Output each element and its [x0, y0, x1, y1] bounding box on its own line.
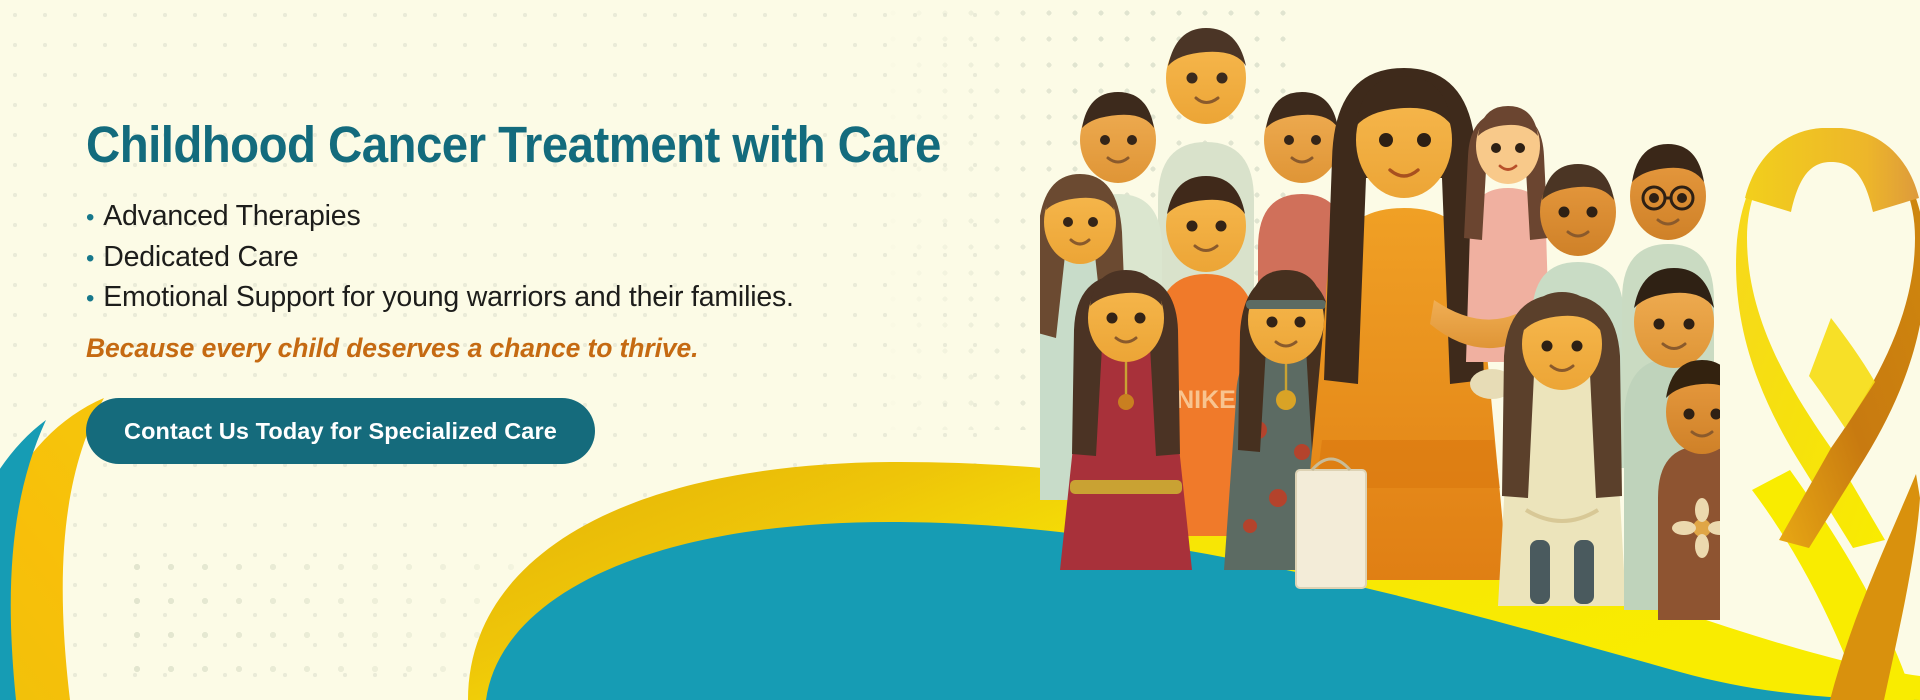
childhood-cancer-banner: NIKE: [0, 0, 1920, 700]
group-of-children-with-caregiver-illustration: NIKE: [1040, 0, 1720, 620]
gold-awareness-ribbon: [1735, 128, 1920, 548]
tagline-text: Because every child deserves a chance to…: [86, 333, 906, 364]
list-item-label: Emotional Support for young warriors and…: [103, 277, 794, 317]
list-item: • Emotional Support for young warriors a…: [86, 277, 906, 317]
list-item: • Advanced Therapies: [86, 196, 906, 236]
bullet-dot-icon: •: [86, 247, 94, 271]
ribbon-loop-top: [1745, 128, 1919, 212]
bullet-dot-icon: •: [86, 206, 94, 230]
list-item-label: Dedicated Care: [103, 237, 298, 277]
shirt-logo-text: NIKE: [1176, 386, 1236, 414]
list-item-label: Advanced Therapies: [103, 196, 360, 236]
banner-content: Childhood Cancer Treatment with Care • A…: [86, 0, 906, 700]
feature-list: • Advanced Therapies • Dedicated Care • …: [86, 196, 906, 317]
bullet-dot-icon: •: [86, 287, 94, 311]
list-item: • Dedicated Care: [86, 237, 906, 277]
child-figure-red-dress: [1060, 270, 1192, 570]
teal-left-arc: [0, 420, 46, 700]
child-figure-cream-dress: [1498, 292, 1626, 606]
contact-us-button[interactable]: Contact Us Today for Specialized Care: [86, 398, 595, 464]
paper-bag: [1296, 459, 1366, 588]
page-title: Childhood Cancer Treatment with Care: [86, 118, 849, 172]
